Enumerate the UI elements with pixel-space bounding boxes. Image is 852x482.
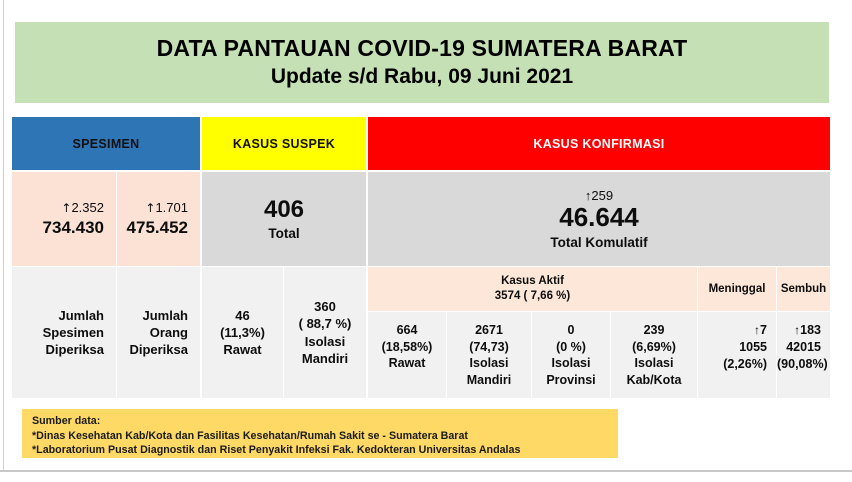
- meninggal-value: 1055: [698, 339, 776, 356]
- spesimen-specimen-label-cell: Jumlah Spesimen Diperiksa: [12, 267, 116, 398]
- up-arrow-icon: ↑: [61, 201, 71, 215]
- spesimen-people-label-line1: Jumlah: [117, 307, 200, 324]
- aktif-isolasi-kabkota-label-line2: Kab/Kota: [611, 372, 697, 389]
- source-note-box: Sumber data: *Dinas Kesehatan Kab/Kota d…: [22, 409, 618, 458]
- aktif-isolasi-provinsi-label-line1: Isolasi: [532, 355, 610, 372]
- suspek-rawat-percent: (11,3%): [202, 324, 283, 341]
- meninggal-delta: ↑7: [698, 322, 776, 339]
- aktif-isolasi-kabkota-cell: 239 (6,69%) Isolasi Kab/Kota: [611, 312, 697, 398]
- header-band-kasus-suspek-label: KASUS SUSPEK: [233, 137, 335, 151]
- spesimen-specimen-label-line1: Jumlah: [12, 307, 116, 324]
- suspek-total-value: 406: [264, 197, 304, 223]
- konfirmasi-total-delta: ↑259: [585, 188, 613, 204]
- suspek-isolasi-mandiri-label-line1: Isolasi: [284, 333, 366, 350]
- aktif-rawat-label-line1: Rawat: [368, 355, 446, 372]
- spesimen-specimen-delta: ↑2.352: [12, 200, 116, 216]
- aktif-isolasi-mandiri-value: 2671: [447, 322, 531, 339]
- aktif-rawat-value: 664: [368, 322, 446, 339]
- subheader-meninggal-label: Meninggal: [709, 282, 766, 297]
- bottom-rule: [0, 470, 852, 472]
- source-note-title: Sumber data:: [32, 414, 618, 429]
- header-band-kasus-suspek: KASUS SUSPEK: [202, 117, 366, 170]
- source-note-line-2: *Laboratorium Pusat Diagnostik dan Riset…: [32, 443, 618, 458]
- header-band-kasus-konfirmasi: KASUS KONFIRMASI: [368, 117, 830, 170]
- subheader-sembuh: Sembuh: [777, 267, 830, 311]
- aktif-isolasi-provinsi-percent: (0 %): [532, 339, 610, 356]
- aktif-isolasi-mandiri-label-line2: Mandiri: [447, 372, 531, 389]
- left-gutter-rule: [3, 0, 4, 470]
- spesimen-people-count-cell: ↑1.701 475.452: [117, 172, 200, 266]
- suspek-isolasi-mandiri-cell: 360 ( 88,7 %) Isolasi Mandiri: [284, 267, 366, 398]
- suspek-isolasi-mandiri-percent: ( 88,7 %): [284, 315, 366, 332]
- aktif-isolasi-kabkota-label-line1: Isolasi: [611, 355, 697, 372]
- up-arrow-icon: ↑: [145, 201, 155, 215]
- aktif-isolasi-provinsi-cell: 0 (0 %) Isolasi Provinsi: [532, 312, 610, 398]
- suspek-rawat-cell: 46 (11,3%) Rawat: [202, 267, 283, 398]
- spesimen-people-label-line3: Diperiksa: [117, 341, 200, 358]
- sembuh-cell: ↑183 42015 (90,08%): [777, 312, 830, 398]
- page-subtitle-date: Update s/d Rabu, 09 Juni 2021: [271, 64, 573, 89]
- subheader-meninggal: Meninggal: [698, 267, 776, 311]
- konfirmasi-total-cell: ↑259 46.644 Total Komulatif: [368, 172, 830, 266]
- spesimen-people-label-line2: Orang: [117, 324, 200, 341]
- aktif-isolasi-mandiri-percent: (74,73): [447, 339, 531, 356]
- aktif-isolasi-mandiri-label-line1: Isolasi: [447, 355, 531, 372]
- aktif-isolasi-kabkota-percent: (6,69%): [611, 339, 697, 356]
- aktif-rawat-percent: (18,58%): [368, 339, 446, 356]
- suspek-isolasi-mandiri-label-line2: Mandiri: [284, 350, 366, 367]
- aktif-isolasi-provinsi-value: 0: [532, 322, 610, 339]
- subheader-sembuh-label: Sembuh: [781, 282, 826, 297]
- spesimen-specimen-label-line3: Diperiksa: [12, 341, 116, 358]
- subheader-kasus-aktif: Kasus Aktif 3574 ( 7,66 %): [368, 267, 697, 311]
- header-band-kasus-konfirmasi-label: KASUS KONFIRMASI: [533, 137, 664, 151]
- suspek-rawat-value: 46: [202, 307, 283, 324]
- spesimen-specimen-label-line2: Spesimen: [12, 324, 116, 341]
- meninggal-cell: ↑7 1055 (2,26%): [698, 312, 776, 398]
- suspek-total-cell: 406 Total: [202, 172, 366, 266]
- aktif-rawat-cell: 664 (18,58%) Rawat: [368, 312, 446, 398]
- data-table: SPESIMEN KASUS SUSPEK KASUS KONFIRMASI ↑…: [12, 117, 830, 398]
- konfirmasi-total-value: 46.644: [559, 203, 639, 233]
- sembuh-delta: ↑183: [777, 322, 830, 339]
- covid-dashboard: DATA PANTAUAN COVID-19 SUMATERA BARAT Up…: [0, 0, 852, 482]
- spesimen-specimen-count-cell: ↑2.352 734.430: [12, 172, 116, 266]
- aktif-isolasi-kabkota-value: 239: [611, 322, 697, 339]
- source-note-line-1: *Dinas Kesehatan Kab/Kota dan Fasilitas …: [32, 429, 618, 444]
- subheader-kasus-aktif-value: 3574 ( 7,66 %): [495, 289, 570, 304]
- aktif-isolasi-mandiri-cell: 2671 (74,73) Isolasi Mandiri: [447, 312, 531, 398]
- page-title-banner: DATA PANTAUAN COVID-19 SUMATERA BARAT Up…: [15, 22, 829, 103]
- suspek-total-label: Total: [268, 226, 299, 241]
- subheader-kasus-aktif-title: Kasus Aktif: [501, 274, 564, 289]
- spesimen-people-delta: ↑1.701: [117, 200, 200, 216]
- meninggal-percent: (2,26%): [698, 356, 776, 373]
- header-band-spesimen-label: SPESIMEN: [73, 137, 140, 151]
- header-band-spesimen: SPESIMEN: [12, 117, 200, 170]
- sembuh-value: 42015: [777, 339, 830, 356]
- suspek-rawat-label: Rawat: [202, 341, 283, 358]
- page-title: DATA PANTAUAN COVID-19 SUMATERA BARAT: [157, 35, 688, 62]
- aktif-isolasi-provinsi-label-line2: Provinsi: [532, 372, 610, 389]
- suspek-isolasi-mandiri-value: 360: [284, 298, 366, 315]
- konfirmasi-total-label: Total Komulatif: [550, 235, 647, 250]
- spesimen-people-label-cell: Jumlah Orang Diperiksa: [117, 267, 200, 398]
- spesimen-specimen-value: 734.430: [12, 217, 116, 238]
- sembuh-percent: (90,08%): [777, 356, 830, 373]
- spesimen-people-value: 475.452: [117, 217, 200, 238]
